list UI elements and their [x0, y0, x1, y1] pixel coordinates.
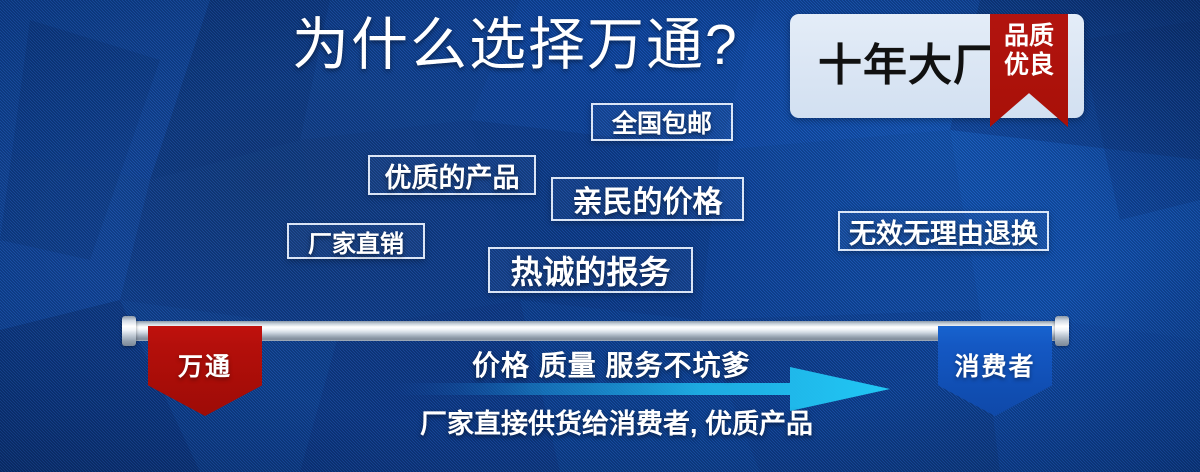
- feature-tag-factory-direct-sales: 厂家直销: [287, 223, 425, 259]
- ribbon-line-1: 品质: [1004, 22, 1054, 51]
- feature-tag-no-reason-return: 无效无理由退换: [838, 211, 1049, 251]
- pipe-cap-left-icon: [122, 316, 136, 346]
- feature-tag-affordable-price: 亲民的价格: [551, 177, 744, 221]
- flag-consumer-label: 消费者: [954, 347, 1035, 383]
- flag-manufacturer-label: 万通: [178, 347, 232, 383]
- slogan-secondary: 厂家直接供货给消费者, 优质产品: [420, 409, 813, 440]
- promo-banner: 为什么选择万通? 十年大厂 品质 优良 全国包邮 优质的产品 亲民的价格 厂家直…: [0, 0, 1200, 472]
- metal-pipe: [128, 321, 1058, 341]
- slogan-primary: 价格 质量 服务不坑爹: [472, 350, 751, 382]
- pipe-cap-right-icon: [1055, 316, 1069, 346]
- badge-main-label: 十年大厂: [818, 43, 998, 89]
- quality-badge: 十年大厂 品质 优良: [790, 14, 1084, 118]
- quality-ribbon: 品质 优良: [990, 14, 1068, 127]
- feature-tag-quality-products: 优质的产品: [368, 155, 536, 195]
- feature-tag-nationwide-free-shipping: 全国包邮: [591, 103, 733, 141]
- page-title: 为什么选择万通?: [292, 14, 739, 76]
- feature-tag-sincere-service: 热诚的报务: [488, 247, 693, 293]
- ribbon-line-2: 优良: [1004, 51, 1054, 80]
